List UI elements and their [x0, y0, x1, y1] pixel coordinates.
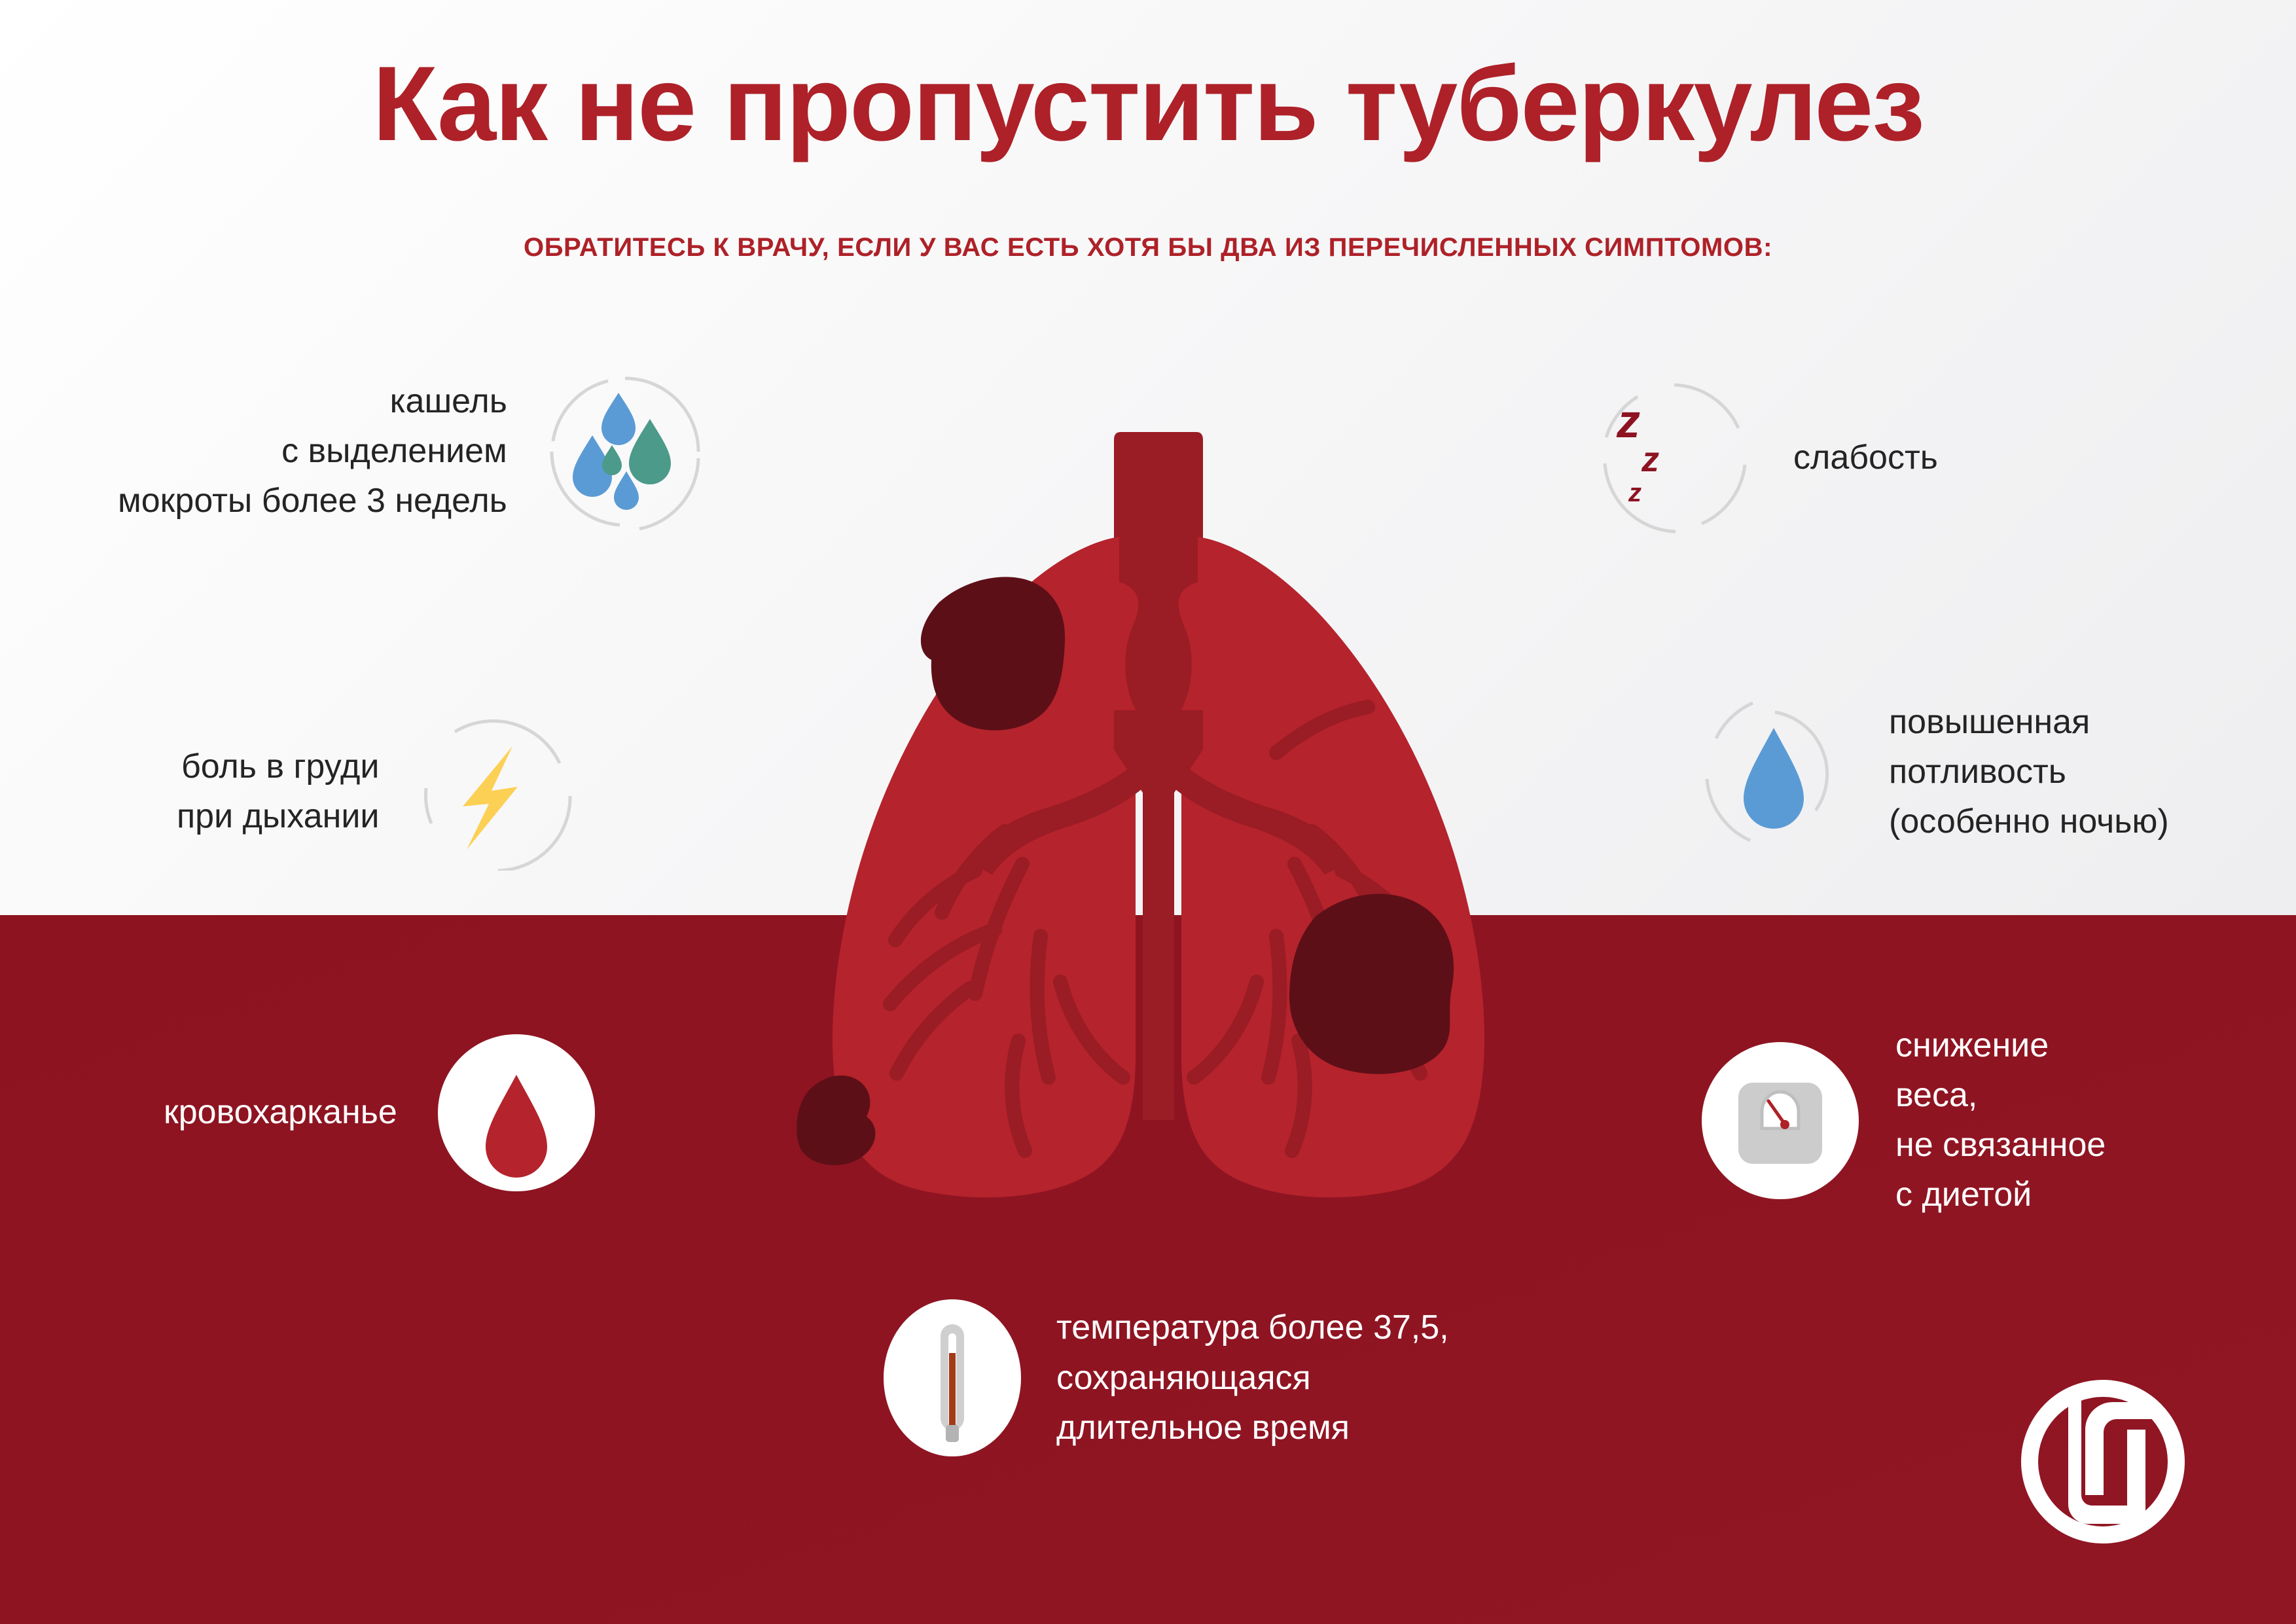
svg-text:z: z	[1628, 478, 1641, 507]
blood-drop-icon	[438, 1034, 595, 1191]
symptom-sweating-icon-wrap	[1695, 694, 1852, 851]
infographic-poster: Как не пропустить туберкулез ОБРАТИТЕСЬ …	[0, 0, 2296, 1624]
bathroom-scale-icon	[1702, 1042, 1859, 1199]
symptom-weight-loss-line-4: с диетой	[1895, 1170, 2032, 1220]
symptom-weight-loss-line-2: веса,	[1895, 1071, 1977, 1121]
symptom-cough-icon-wrap	[547, 373, 704, 530]
symptom-temperature-line-3: длительное время	[1056, 1403, 1350, 1453]
organization-logo	[2015, 1373, 2191, 1550]
symptom-weight-loss-line-1: снижение	[1895, 1021, 2049, 1071]
sweat-droplet-icon	[1695, 694, 1852, 851]
page-title: Как не пропустить туберкулез	[0, 51, 2296, 157]
symptom-temperature-icon-wrap	[884, 1299, 1021, 1456]
symptom-sweating-line-2: потливость	[1889, 748, 2066, 797]
symptom-hemoptysis-line-1: кровохарканье	[164, 1088, 397, 1138]
svg-text:z: z	[1616, 395, 1640, 448]
thermometer-icon	[884, 1299, 1021, 1456]
symptom-chest-pain-line-2: при дыхании	[177, 792, 379, 842]
symptom-hemoptysis: кровохарканье	[164, 1034, 595, 1191]
symptom-sweating-labels: повышенная потливость (особенно ночью)	[1889, 698, 2169, 847]
symptom-weight-loss-icon-wrap	[1702, 1042, 1859, 1199]
lungs-illustration	[779, 412, 1538, 1237]
symptom-weakness: z z z слабость	[1597, 380, 1938, 537]
symptom-chest-pain-line-1: боль в груди	[181, 742, 379, 792]
symptom-weakness-line-1: слабость	[1793, 433, 1938, 483]
symptom-sweating: повышенная потливость (особенно ночью)	[1695, 694, 2169, 851]
symptom-cough-labels: кашель с выделением мокроты более 3 неде…	[118, 377, 507, 526]
symptom-chest-pain-icon-wrap	[418, 713, 575, 871]
symptom-sweating-line-1: повышенная	[1889, 698, 2090, 748]
symptom-temperature-line-1: температура более 37,5,	[1056, 1303, 1449, 1352]
symptom-cough: кашель с выделением мокроты более 3 неде…	[118, 373, 704, 530]
symptom-hemoptysis-labels: кровохарканье	[164, 1088, 397, 1138]
symptom-weight-loss-line-3: не связанное	[1895, 1121, 2106, 1170]
svg-text:z: z	[1641, 440, 1659, 479]
symptom-hemoptysis-icon-wrap	[438, 1034, 595, 1191]
symptom-sweating-line-3: (особенно ночью)	[1889, 797, 2169, 847]
symptom-temperature-labels: температура более 37,5, сохраняющаяся дл…	[1056, 1303, 1449, 1453]
symptom-chest-pain-labels: боль в груди при дыхании	[177, 742, 379, 842]
symptom-weight-loss-labels: снижение веса, не связанное с диетой	[1895, 1021, 2106, 1220]
symptom-weakness-labels: слабость	[1793, 433, 1938, 483]
symptom-temperature-line-2: сохраняющаяся	[1056, 1353, 1311, 1403]
symptom-temperature: температура более 37,5, сохраняющаяся дл…	[884, 1299, 1449, 1456]
symptom-cough-line-1: кашель	[390, 377, 507, 427]
sputum-droplets-icon	[547, 373, 704, 530]
symptom-weight-loss: снижение веса, не связанное с диетой	[1702, 1021, 2106, 1220]
sleep-zzz-icon: z z z	[1597, 380, 1754, 537]
symptom-weakness-icon-wrap: z z z	[1597, 380, 1754, 537]
symptom-cough-line-2: с выделением	[281, 427, 507, 477]
symptom-chest-pain: боль в груди при дыхании	[177, 713, 575, 871]
page-subtitle: ОБРАТИТЕСЬ К ВРАЧУ, ЕСЛИ У ВАС ЕСТЬ ХОТЯ…	[0, 233, 2296, 262]
symptom-cough-line-3: мокроты более 3 недель	[118, 477, 507, 526]
lightning-bolt-icon	[418, 713, 575, 871]
